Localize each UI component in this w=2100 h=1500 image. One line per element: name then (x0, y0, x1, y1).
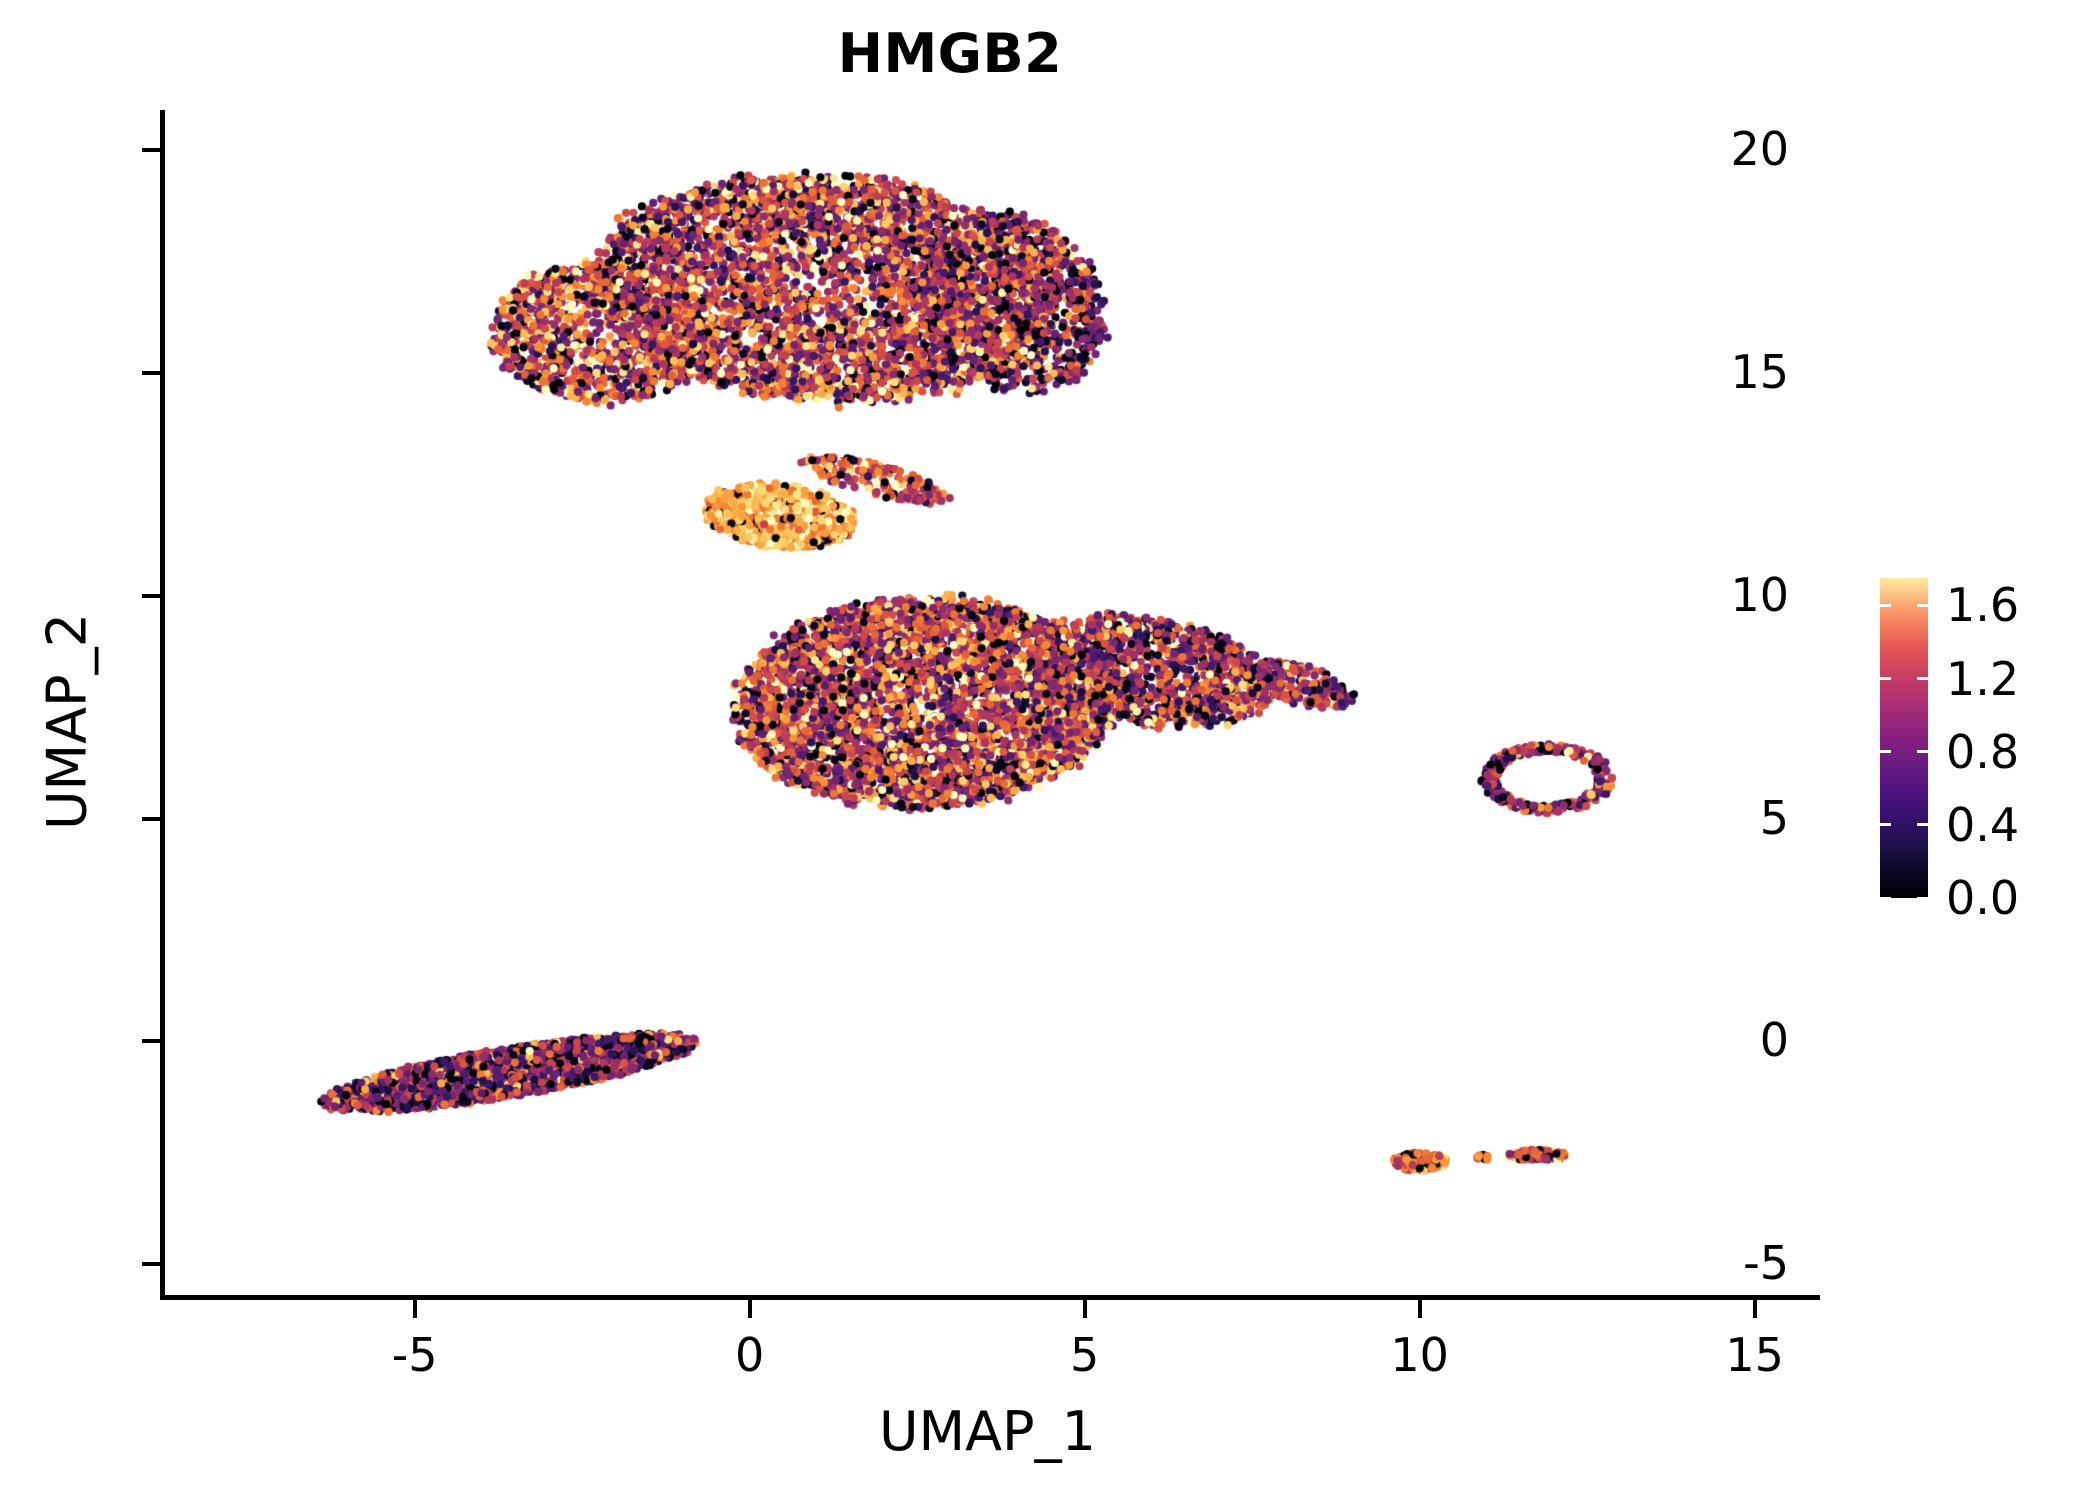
x-tick-mark (413, 1300, 417, 1318)
x-tick-mark (748, 1300, 752, 1318)
x-axis-label: UMAP_1 (160, 1400, 1815, 1463)
x-tick-label: 5 (1070, 1332, 1099, 1378)
umap-feature-plot-figure: HMGB2 -505101520 -5051015 UMAP_1 UMAP_2 … (0, 0, 2100, 1500)
plot-axes: -505101520 -5051015 (160, 110, 1815, 1300)
colorbar-tick-label: 0.0 (1946, 875, 2019, 921)
y-tick-mark (142, 817, 160, 821)
y-tick-mark (142, 371, 160, 375)
page-title: HMGB2 (0, 22, 1900, 85)
y-tick-label: 20 (1730, 126, 1789, 172)
x-tick-label: 10 (1390, 1332, 1449, 1378)
colorbar-tick-label: 1.2 (1946, 656, 2019, 702)
colorbar-gradient (1880, 578, 1928, 898)
y-tick-mark (142, 148, 160, 152)
x-axis-spine (160, 1295, 1820, 1300)
y-tick-label: 0 (1760, 1017, 1789, 1063)
colorbar-tick-label: 0.8 (1946, 729, 2019, 775)
y-axis-spine (160, 110, 165, 1300)
colorbar-tick-label: 1.6 (1946, 582, 2019, 628)
y-axis-label: UMAP_2 (36, 412, 99, 1032)
colorbar-tick-label: 0.4 (1946, 802, 2019, 848)
x-tick-label: 15 (1725, 1332, 1784, 1378)
x-tick-label: -5 (392, 1332, 438, 1378)
y-tick-mark (142, 1262, 160, 1266)
y-tick-label: 5 (1760, 795, 1789, 841)
x-tick-label: 0 (735, 1332, 764, 1378)
x-tick-mark (1418, 1300, 1422, 1318)
y-tick-mark (142, 1039, 160, 1043)
y-tick-label: -5 (1743, 1240, 1789, 1286)
scatter-points-canvas (160, 110, 1815, 1300)
x-tick-mark (1753, 1300, 1757, 1318)
y-tick-label: 15 (1730, 349, 1789, 395)
y-tick-mark (142, 594, 160, 598)
y-tick-label: 10 (1730, 572, 1789, 618)
colorbar: 0.00.40.81.21.6 (1880, 578, 2080, 908)
x-tick-mark (1083, 1300, 1087, 1318)
